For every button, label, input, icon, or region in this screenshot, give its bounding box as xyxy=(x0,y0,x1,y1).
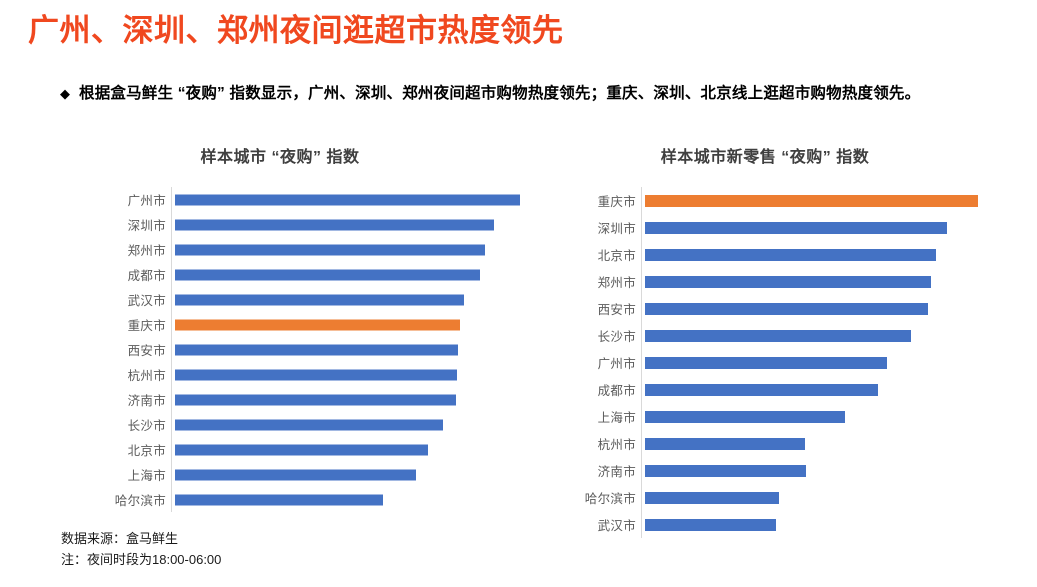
bar-track xyxy=(643,376,1020,403)
bar-rows: 广州市深圳市郑州市成都市武汉市重庆市西安市杭州市济南市长沙市北京市上海市哈尔滨市 xyxy=(40,187,520,512)
category-label: 北京市 xyxy=(40,440,173,459)
bar xyxy=(175,294,464,305)
category-label: 深圳市 xyxy=(40,215,173,234)
category-label: 长沙市 xyxy=(510,326,643,345)
category-label: 郑州市 xyxy=(510,272,643,291)
bar xyxy=(645,330,911,342)
category-label: 郑州市 xyxy=(40,240,173,259)
category-label: 杭州市 xyxy=(510,434,643,453)
bar-row: 北京市 xyxy=(40,437,520,462)
bar-row: 杭州市 xyxy=(510,430,1020,457)
bar-track xyxy=(643,403,1020,430)
category-label: 杭州市 xyxy=(40,365,173,384)
category-label: 哈尔滨市 xyxy=(40,490,173,509)
bar-row: 西安市 xyxy=(40,337,520,362)
bar-row: 郑州市 xyxy=(40,237,520,262)
bar xyxy=(645,492,779,504)
bar xyxy=(645,303,928,315)
bar-row: 长沙市 xyxy=(510,322,1020,349)
bar-track xyxy=(173,262,520,287)
chart-night-shopping-index: 样本城市 “夜购” 指数 广州市深圳市郑州市成都市武汉市重庆市西安市杭州市济南市… xyxy=(40,145,520,512)
bar-row: 西安市 xyxy=(510,295,1020,322)
bar-track xyxy=(643,187,1020,214)
category-label: 长沙市 xyxy=(40,415,173,434)
bar-track xyxy=(643,511,1020,538)
category-label: 武汉市 xyxy=(40,290,173,309)
bar-row: 哈尔滨市 xyxy=(40,487,520,512)
bar xyxy=(645,195,978,207)
bar xyxy=(175,419,443,430)
bar-track xyxy=(643,349,1020,376)
bar-track xyxy=(643,484,1020,511)
bar-row: 重庆市 xyxy=(510,187,1020,214)
bar-rows: 重庆市深圳市北京市郑州市西安市长沙市广州市成都市上海市杭州市济南市哈尔滨市武汉市 xyxy=(510,187,1020,538)
data-source-text: 数据来源：盒马鲜生 xyxy=(61,528,221,549)
bar xyxy=(645,438,805,450)
bar xyxy=(175,344,458,355)
bar xyxy=(175,319,460,330)
bar-track xyxy=(643,322,1020,349)
bar xyxy=(175,194,520,205)
bar-row: 成都市 xyxy=(510,376,1020,403)
category-label: 武汉市 xyxy=(510,515,643,534)
diamond-bullet-icon: ◆ xyxy=(60,80,70,108)
chart-title: 样本城市新零售 “夜购” 指数 xyxy=(510,145,1020,171)
bar-track xyxy=(643,241,1020,268)
plot-area: 广州市深圳市郑州市成都市武汉市重庆市西安市杭州市济南市长沙市北京市上海市哈尔滨市 xyxy=(40,187,520,512)
bar-track xyxy=(173,187,520,212)
bar-track xyxy=(173,362,520,387)
bar-track xyxy=(643,457,1020,484)
category-label: 上海市 xyxy=(510,407,643,426)
category-label: 西安市 xyxy=(510,299,643,318)
bar-track xyxy=(643,268,1020,295)
bar-track xyxy=(643,430,1020,457)
bar xyxy=(645,357,887,369)
bar-track xyxy=(643,295,1020,322)
bar xyxy=(175,269,480,280)
bar-row: 武汉市 xyxy=(510,511,1020,538)
bar-track xyxy=(173,487,520,512)
bar-track xyxy=(173,387,520,412)
category-label: 重庆市 xyxy=(40,315,173,334)
page-title: 广州、深圳、郑州夜间逛超市热度领先 xyxy=(28,10,564,52)
bar-track xyxy=(173,312,520,337)
time-range-note-text: 注：夜间时段为18:00-06:00 xyxy=(61,549,221,570)
category-label: 哈尔滨市 xyxy=(510,488,643,507)
bar-row: 上海市 xyxy=(40,462,520,487)
bar-track xyxy=(173,237,520,262)
chart-title: 样本城市 “夜购” 指数 xyxy=(40,145,520,171)
bar-row: 上海市 xyxy=(510,403,1020,430)
bar-row: 郑州市 xyxy=(510,268,1020,295)
bar xyxy=(175,394,456,405)
bar-row: 重庆市 xyxy=(40,312,520,337)
category-label: 济南市 xyxy=(510,461,643,480)
bar xyxy=(175,444,428,455)
category-label: 济南市 xyxy=(40,390,173,409)
bar-row: 长沙市 xyxy=(40,412,520,437)
plot-area: 重庆市深圳市北京市郑州市西安市长沙市广州市成都市上海市杭州市济南市哈尔滨市武汉市 xyxy=(510,187,1020,538)
footer-notes: 数据来源：盒马鲜生 注：夜间时段为18:00-06:00 xyxy=(61,528,221,570)
bar xyxy=(175,494,383,505)
bar-row: 广州市 xyxy=(40,187,520,212)
bullet-paragraph-text: 根据盒马鲜生 “夜购” 指数显示，广州、深圳、郑州夜间超市购物热度领先；重庆、深… xyxy=(79,80,920,108)
bullet-paragraph: ◆ 根据盒马鲜生 “夜购” 指数显示，广州、深圳、郑州夜间超市购物热度领先；重庆… xyxy=(60,80,1020,108)
bar xyxy=(645,465,806,477)
category-label: 深圳市 xyxy=(510,218,643,237)
chart-new-retail-night-shopping-index: 样本城市新零售 “夜购” 指数 重庆市深圳市北京市郑州市西安市长沙市广州市成都市… xyxy=(510,145,1020,538)
bar-row: 北京市 xyxy=(510,241,1020,268)
bar-track xyxy=(173,462,520,487)
bar-track xyxy=(173,412,520,437)
bar-track xyxy=(173,287,520,312)
category-label: 广州市 xyxy=(510,353,643,372)
bar-row: 深圳市 xyxy=(510,214,1020,241)
bar-track xyxy=(173,212,520,237)
category-label: 成都市 xyxy=(40,265,173,284)
category-label: 北京市 xyxy=(510,245,643,264)
bar xyxy=(645,222,947,234)
bar xyxy=(175,244,485,255)
category-label: 西安市 xyxy=(40,340,173,359)
bar-track xyxy=(643,214,1020,241)
bar-row: 哈尔滨市 xyxy=(510,484,1020,511)
bar-track xyxy=(173,337,520,362)
bar xyxy=(645,411,845,423)
bar-row: 济南市 xyxy=(40,387,520,412)
bar-row: 广州市 xyxy=(510,349,1020,376)
bar-row: 济南市 xyxy=(510,457,1020,484)
bar-row: 成都市 xyxy=(40,262,520,287)
bar-row: 杭州市 xyxy=(40,362,520,387)
bar xyxy=(645,249,936,261)
category-label: 上海市 xyxy=(40,465,173,484)
bar xyxy=(175,219,494,230)
bar-row: 武汉市 xyxy=(40,287,520,312)
category-label: 成都市 xyxy=(510,380,643,399)
bar xyxy=(645,519,776,531)
bar xyxy=(645,384,878,396)
bar-track xyxy=(173,437,520,462)
bar xyxy=(175,369,457,380)
category-label: 重庆市 xyxy=(510,191,643,210)
category-label: 广州市 xyxy=(40,190,173,209)
bar xyxy=(645,276,931,288)
bar xyxy=(175,469,416,480)
bar-row: 深圳市 xyxy=(40,212,520,237)
